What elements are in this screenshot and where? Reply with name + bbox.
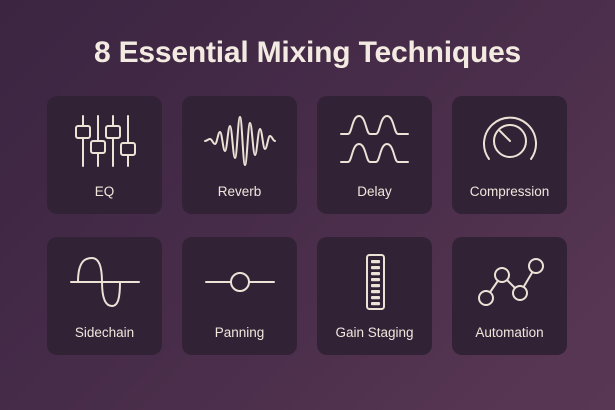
delay-double-wave-icon bbox=[317, 110, 432, 172]
techniques-grid: EQ Reverb Delay bbox=[47, 96, 568, 355]
automation-nodes-icon bbox=[452, 251, 567, 313]
card-compression[interactable]: Compression bbox=[452, 96, 567, 214]
card-reverb[interactable]: Reverb bbox=[182, 96, 297, 214]
reverb-waveform-icon bbox=[182, 110, 297, 172]
card-label: Gain Staging bbox=[311, 325, 438, 341]
card-delay[interactable]: Delay bbox=[317, 96, 432, 214]
page-title: 8 Essential Mixing Techniques bbox=[0, 34, 615, 72]
card-sidechain[interactable]: Sidechain bbox=[47, 237, 162, 355]
sidechain-sine-icon bbox=[47, 251, 162, 313]
card-label: Delay bbox=[311, 184, 438, 200]
card-label: Compression bbox=[446, 184, 573, 200]
card-panning[interactable]: Panning bbox=[182, 237, 297, 355]
card-label: Reverb bbox=[176, 184, 303, 200]
poster-canvas: 8 Essential Mixing Techniques EQ bbox=[0, 0, 615, 410]
card-automation[interactable]: Automation bbox=[452, 237, 567, 355]
gain-staging-meter-icon bbox=[317, 251, 432, 313]
card-gain-staging[interactable]: Gain Staging bbox=[317, 237, 432, 355]
card-label: Automation bbox=[446, 325, 573, 341]
card-label: Panning bbox=[176, 325, 303, 341]
card-label: Sidechain bbox=[41, 325, 168, 341]
equalizer-faders-icon bbox=[47, 110, 162, 172]
card-label: EQ bbox=[41, 184, 168, 200]
card-eq[interactable]: EQ bbox=[47, 96, 162, 214]
panning-slider-icon bbox=[182, 251, 297, 313]
compression-knob-icon bbox=[452, 110, 567, 172]
